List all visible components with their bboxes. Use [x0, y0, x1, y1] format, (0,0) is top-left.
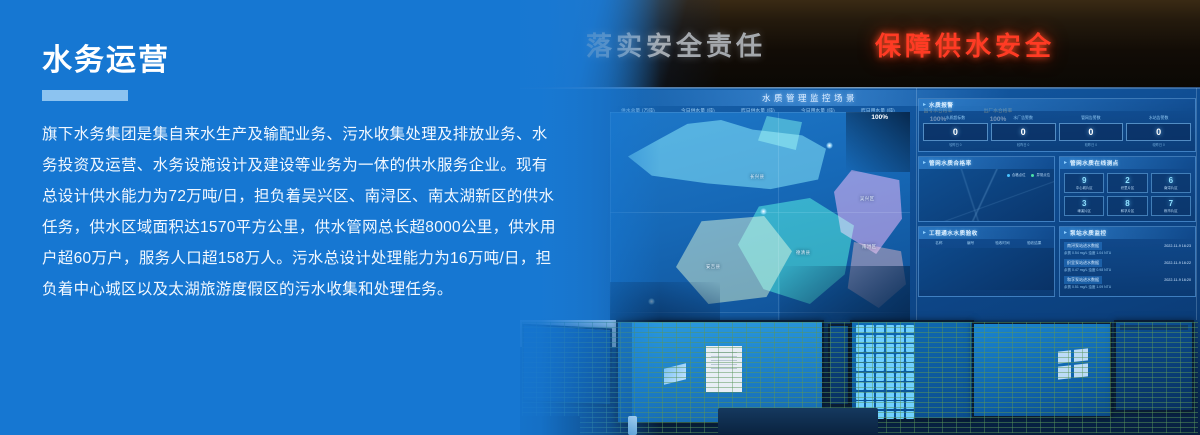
alarm-card-value: 0 — [923, 123, 988, 141]
measure-point-cell[interactable]: 6 南浔片区 — [1151, 173, 1191, 193]
panel-water-quality-alarm: ▸ 水质报警 水质超标数 0 较昨日 0 水厂告警数 0 较昨日 0 — [918, 98, 1196, 152]
alarm-card-footer: 较昨日 0 — [1059, 142, 1124, 147]
alarm-card[interactable]: 管网告警数 0 较昨日 0 — [1059, 115, 1124, 147]
alarm-card-value: 0 — [1126, 123, 1191, 141]
panel-header: ▸ 管网水质在线测点 — [1060, 157, 1195, 169]
alarm-card-label: 水厂告警数 — [991, 115, 1056, 121]
panel-header: ▸ 泵站水质监控 — [1060, 227, 1195, 239]
legend-dot-pass-icon — [1007, 174, 1010, 177]
chevron-right-icon: ▸ — [923, 160, 926, 166]
measure-point-cell[interactable]: 3 埭溪片区 — [1064, 196, 1104, 216]
map-marker — [760, 208, 767, 215]
pump-log-row[interactable]: 和孚泵站进水数据 2022-11-9 16:20 余氯 0.51 mg/L 浊度… — [1064, 276, 1191, 290]
dashboard-row-bottom: ▸ 工程通水水质验收 名称 编号 验收时间 验收结果 ▸ — [918, 226, 1196, 301]
pump-log-name: 南浔泵站进水数据 — [1064, 242, 1102, 250]
alarm-card-value: 0 — [991, 123, 1056, 141]
chevron-right-icon: ▸ — [1064, 160, 1067, 166]
map-marker — [826, 142, 833, 149]
alarm-card-footer: 较昨日 0 — [1126, 142, 1191, 147]
alarm-card-label: 管网告警数 — [1059, 115, 1124, 121]
legend-dot-fail-icon — [1031, 174, 1034, 177]
table-col-header: 验收结果 — [1018, 241, 1050, 246]
measure-point-grid: 9 中心城片区 2 织里片区 6 南浔片区 — [1060, 169, 1195, 220]
wall-seam — [916, 88, 917, 328]
panel-header: ▸ 水质报警 — [919, 99, 1195, 111]
table-body — [919, 248, 1054, 290]
dashboard-right-column: ▸ 水质报警 水质超标数 0 较昨日 0 水厂告警数 0 较昨日 0 — [918, 98, 1196, 301]
pump-log-name: 和孚泵站进水数据 — [1064, 276, 1102, 284]
measure-point-value: 8 — [1108, 199, 1146, 208]
pump-log-name: 织里泵站进水数据 — [1064, 259, 1102, 267]
mini-map-legend: 合格点位 异常点位 — [1007, 172, 1050, 177]
measure-point-cell[interactable]: 7 练市片区 — [1151, 196, 1191, 216]
panel-title: 管网水质在线测点 — [1070, 159, 1119, 167]
table-col-header: 名称 — [923, 241, 955, 246]
table-col-header: 编号 — [955, 241, 987, 246]
panel-header: ▸ 管网水质合格率 — [919, 157, 1054, 169]
pump-log-top: 和孚泵站进水数据 2022-11-9 16:20 — [1064, 276, 1191, 284]
alarm-card-footer: 较昨日 0 — [991, 142, 1056, 147]
map-label-2: 安吉县 — [706, 264, 720, 270]
legend-label-pass: 合格点位 — [1012, 173, 1026, 177]
measure-point-label: 中心城片区 — [1065, 185, 1103, 190]
pump-log-row[interactable]: 南浔泵站进水数据 2022-11-9 16:23 余氯 0.54 mg/L 浊度… — [1064, 242, 1191, 256]
measure-point-label: 埭溪片区 — [1065, 208, 1103, 213]
pump-log-detail: 余氯 0.51 mg/L 浊度 1.09 NTU — [1064, 285, 1191, 290]
measure-point-label: 和孚片区 — [1108, 208, 1146, 213]
pump-log-time: 2022-11-9 16:20 — [1164, 278, 1191, 282]
dashboard-row-middle: ▸ 管网水质合格率 合格点位 异常点位 — [918, 156, 1196, 226]
panel-acceptance-table: ▸ 工程通水水质验收 名称 编号 验收时间 验收结果 — [918, 226, 1055, 297]
measure-point-label: 织里片区 — [1108, 185, 1146, 190]
measure-point-cell[interactable]: 9 中心城片区 — [1064, 173, 1104, 193]
panel-pipe-quality-rate: ▸ 管网水质合格率 合格点位 异常点位 — [918, 156, 1055, 222]
pump-log-row[interactable]: 织里泵站进水数据 2022-11-9 16:22 余氯 0.47 mg/L 浊度… — [1064, 259, 1191, 273]
alarm-card-value: 0 — [1059, 123, 1124, 141]
panel-title: 工程通水水质验收 — [929, 229, 978, 237]
water-operations-banner: 落实安全责任 保障供水安全 水质管理监控场景 供水总量 (万吨) 今日供水量 (… — [0, 0, 1200, 435]
title-underline — [42, 90, 128, 101]
alarm-card-footer: 较昨日 0 — [923, 142, 988, 147]
measure-point-label: 练市片区 — [1152, 208, 1190, 213]
measure-point-label: 南浔片区 — [1152, 185, 1190, 190]
measure-point-cell[interactable]: 8 和孚片区 — [1107, 196, 1147, 216]
led-slogan-right: 保障供水安全 — [875, 26, 1055, 63]
mini-map[interactable]: 合格点位 异常点位 — [919, 169, 1054, 221]
panel-title: 管网水质合格率 — [929, 159, 972, 167]
alarm-card[interactable]: 水厂告警数 0 较昨日 0 — [991, 115, 1056, 147]
panel-pump-station-monitor: ▸ 泵站水质监控 南浔泵站进水数据 2022-11-9 16:23 余氯 0.5… — [1059, 226, 1196, 297]
panel-online-measure-points: ▸ 管网水质在线测点 9 中心城片区 2 织里片区 — [1059, 156, 1196, 222]
alarm-card-label: 水站告警数 — [1126, 115, 1191, 121]
pump-log-list: 南浔泵站进水数据 2022-11-9 16:23 余氯 0.54 mg/L 浊度… — [1060, 239, 1195, 296]
table-col-header: 验收时间 — [987, 241, 1019, 246]
alarm-card[interactable]: 水站告警数 0 较昨日 0 — [1126, 115, 1191, 147]
chevron-right-icon: ▸ — [923, 230, 926, 236]
alarm-card[interactable]: 水质超标数 0 较昨日 0 — [923, 115, 988, 147]
page-title: 水务运营 — [42, 46, 562, 76]
chevron-right-icon: ▸ — [1064, 230, 1067, 236]
alarm-card-label: 水质超标数 — [923, 115, 988, 121]
map-shadow-br — [780, 266, 910, 322]
description-paragraph: 旗下水务集团是集自来水生产及输配业务、污水收集处理及排放业务、水务投资及运营、水… — [42, 119, 562, 305]
text-content: 水务运营 旗下水务集团是集自来水生产及输配业务、污水收集处理及排放业务、水务投资… — [42, 46, 562, 305]
map-label-4: 吴兴区 — [860, 196, 874, 202]
pump-log-top: 织里泵站进水数据 2022-11-9 16:22 — [1064, 259, 1191, 267]
map-percent: 100% — [871, 114, 888, 121]
alarm-card-list: 水质超标数 0 较昨日 0 水厂告警数 0 较昨日 0 管网告警数 0 — [919, 111, 1195, 151]
panel-title: 水质报警 — [929, 101, 953, 109]
measure-point-value: 3 — [1065, 199, 1103, 208]
map-label-3: 德清县 — [796, 250, 810, 256]
table-header-row: 名称 编号 验收时间 验收结果 — [919, 239, 1054, 248]
chevron-right-icon: ▸ — [923, 102, 926, 108]
measure-point-cell[interactable]: 2 织里片区 — [1107, 173, 1147, 193]
pump-log-time: 2022-11-9 16:22 — [1164, 261, 1191, 265]
wall-seam — [1196, 88, 1197, 328]
measure-point-value: 7 — [1152, 199, 1190, 208]
pump-log-detail: 余氯 0.54 mg/L 浊度 1.04 NTU — [1064, 251, 1191, 256]
measure-point-value: 9 — [1065, 176, 1103, 185]
map-label-1: 长兴县 — [750, 174, 764, 180]
map-shadow-tr — [846, 112, 910, 172]
keyboard — [718, 408, 878, 434]
measure-point-value: 2 — [1108, 176, 1146, 185]
measure-point-value: 6 — [1152, 176, 1190, 185]
pump-log-top: 南浔泵站进水数据 2022-11-9 16:23 — [1064, 242, 1191, 250]
pump-log-time: 2022-11-9 16:23 — [1164, 244, 1191, 248]
panel-title: 泵站水质监控 — [1070, 229, 1107, 237]
panel-header: ▸ 工程通水水质验收 — [919, 227, 1054, 239]
legend-label-fail: 异常点位 — [1036, 173, 1050, 177]
map-label-5: 南浔区 — [862, 244, 876, 250]
pump-log-detail: 余氯 0.47 mg/L 浊度 0.98 NTU — [1064, 268, 1191, 273]
